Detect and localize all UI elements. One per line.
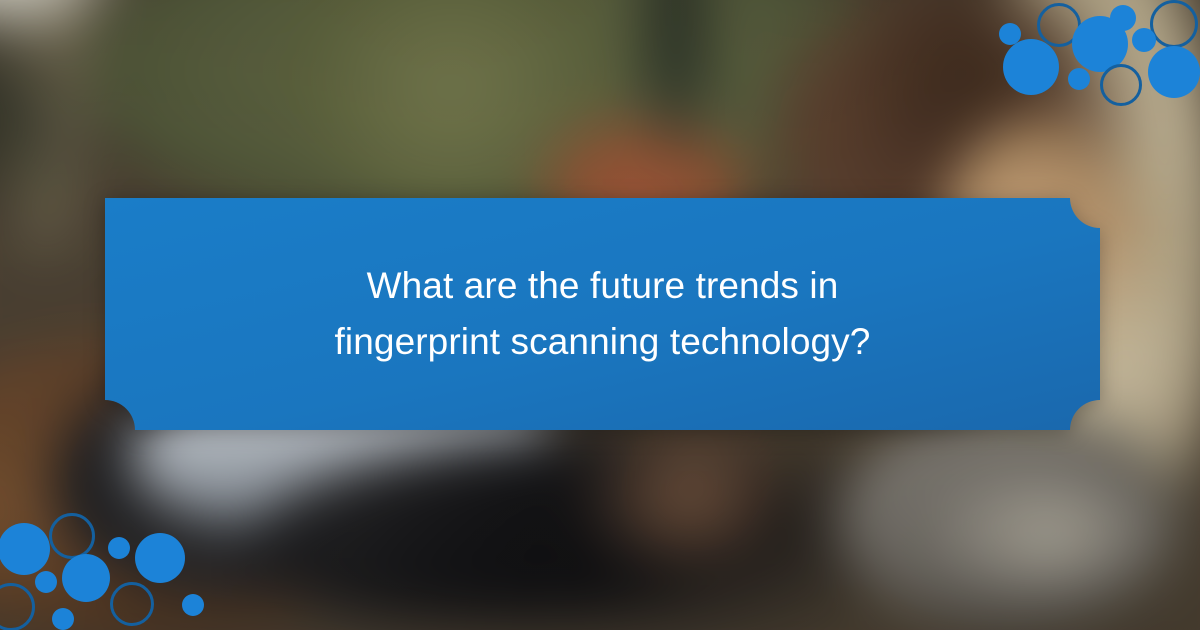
question-headline: What are the future trends in fingerprin…	[253, 258, 953, 370]
bg-person-hand	[580, 410, 800, 580]
question-card: What are the future trends in fingerprin…	[105, 198, 1100, 430]
bg-bottom-right-highlight	[920, 460, 1180, 610]
share-card-canvas: What are the future trends in fingerprin…	[0, 0, 1200, 630]
